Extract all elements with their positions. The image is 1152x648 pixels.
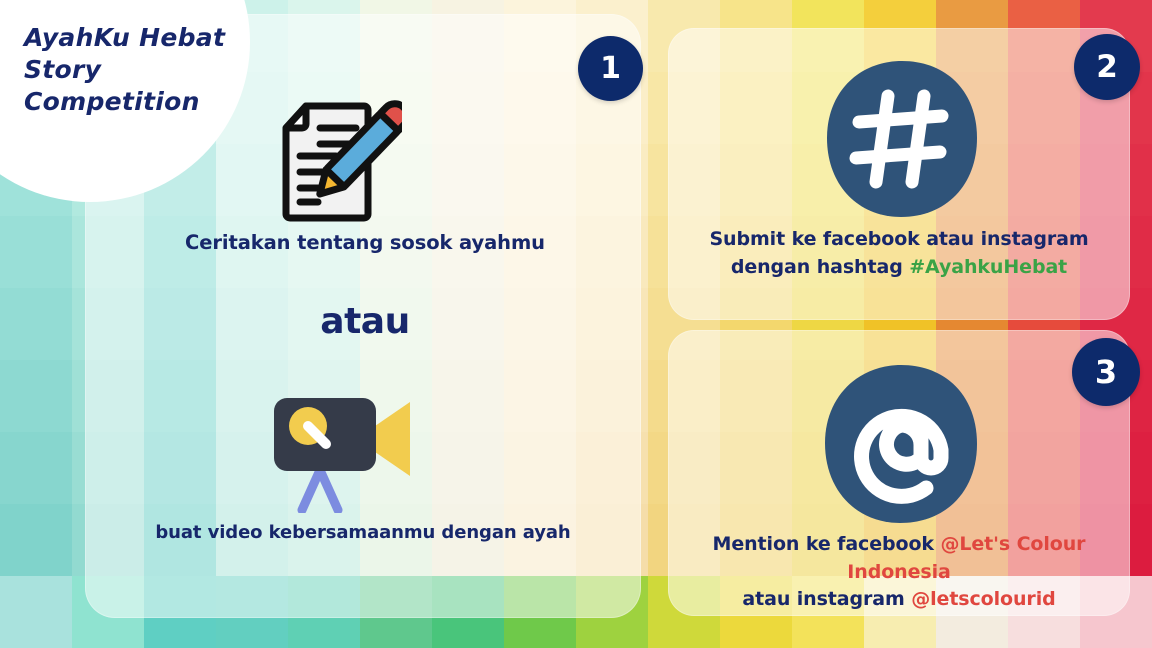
step-two-caption: Submit ke facebook atau instagram dengan… [676, 226, 1122, 281]
step-three-line-1-prefix: Mention ke facebook [713, 533, 941, 555]
step-badge-2: 2 [1074, 34, 1140, 100]
mosaic-cell [0, 504, 72, 576]
instagram-handle: @letscolourid [911, 588, 1055, 610]
at-sign-icon [822, 362, 980, 526]
infographic-canvas: AyahKu Hebat Story Competition 1 2 3 [0, 0, 1152, 648]
mosaic-cell [0, 288, 72, 360]
mosaic-cell [0, 576, 72, 648]
step-two-line-1: Submit ke facebook atau instagram [709, 228, 1088, 250]
step-three-line-2-prefix: atau instagram [742, 588, 911, 610]
or-label: atau [100, 298, 630, 346]
mosaic-cell [0, 360, 72, 432]
video-caption: buat video kebersamaanmu dengan ayah [85, 521, 641, 545]
page-title: AyahKu Hebat Story Competition [24, 22, 274, 118]
step-badge-3: 3 [1072, 338, 1140, 406]
step-two-line-2-prefix: dengan hashtag [731, 256, 909, 278]
title-line-2: Story Competition [24, 54, 274, 118]
story-caption: Ceritakan tentang sosok ayahmu [100, 230, 630, 256]
document-pencil-icon [272, 96, 402, 226]
mosaic-cell [0, 216, 72, 288]
video-camera-icon [262, 378, 422, 513]
step-three-caption: Mention ke facebook @Let's Colour Indone… [676, 531, 1122, 614]
step-badge-1: 1 [578, 36, 643, 101]
hashtag-text: #AyahkuHebat [909, 256, 1067, 278]
mosaic-cell [0, 432, 72, 504]
hashtag-icon [824, 58, 980, 220]
title-line-1: AyahKu Hebat [24, 22, 274, 54]
